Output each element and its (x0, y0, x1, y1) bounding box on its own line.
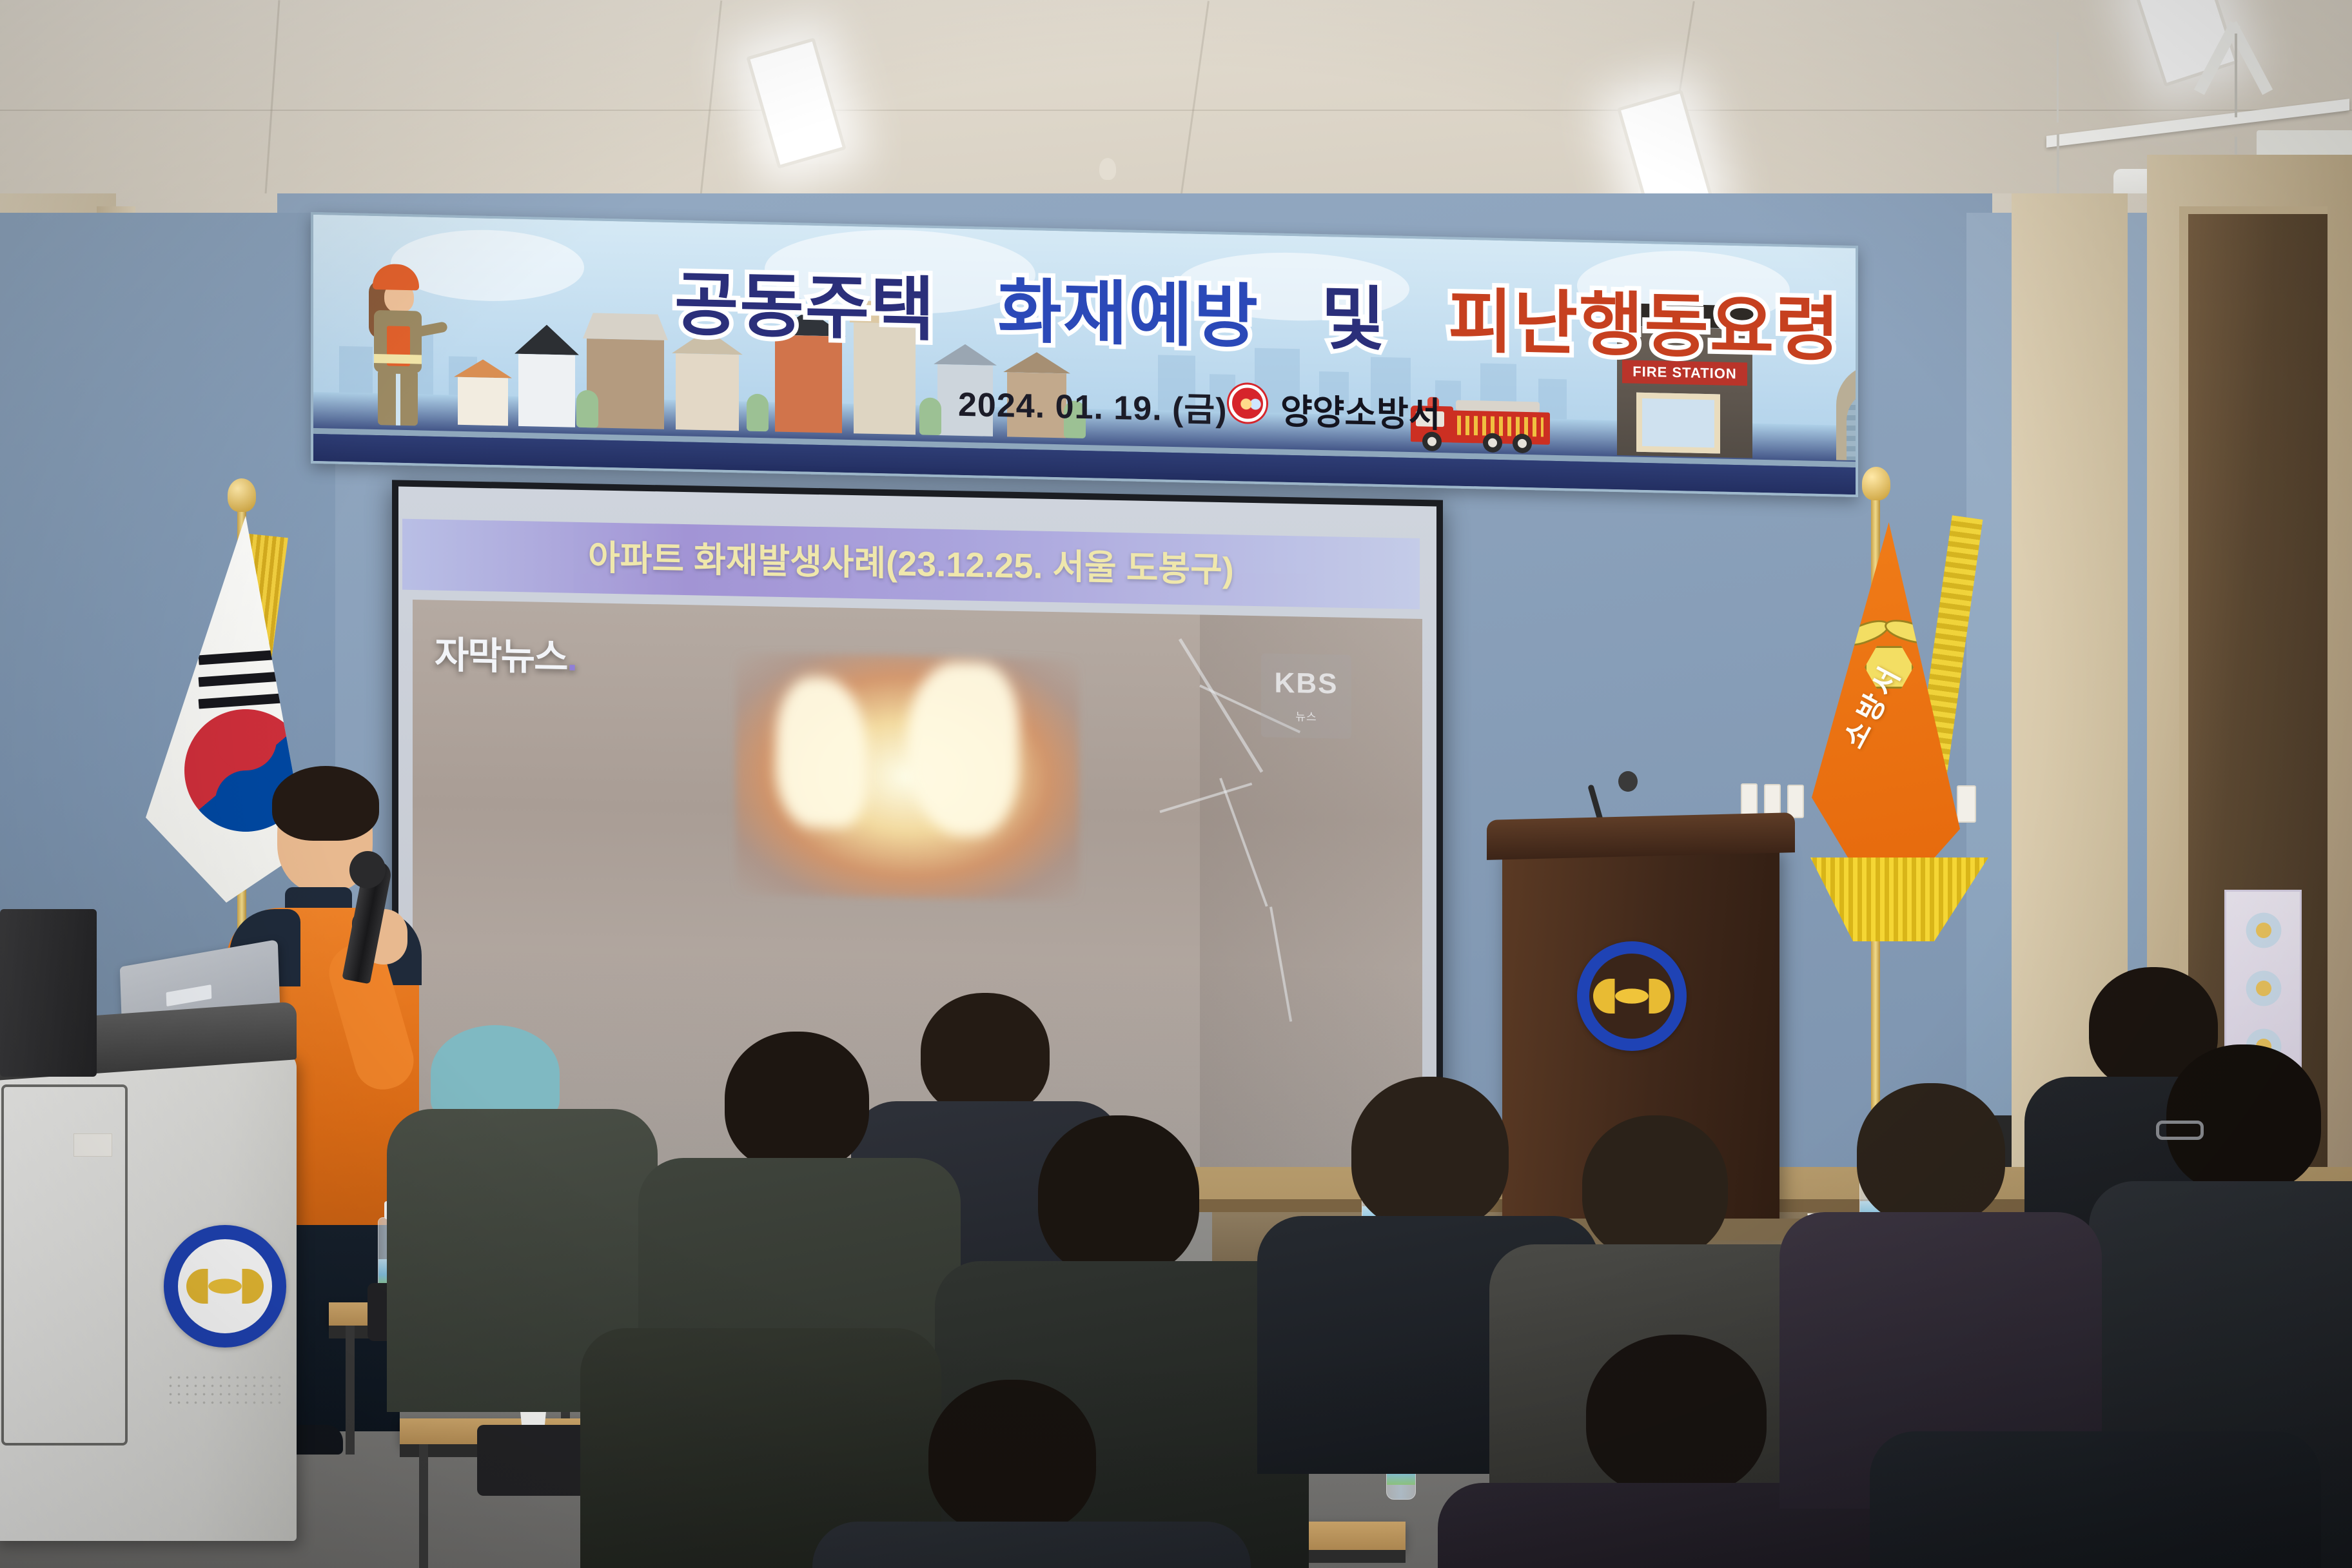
lectern-left (0, 1051, 297, 1541)
banner-date: 2024. 01. 19. (금) (958, 377, 1228, 431)
banner-organization: 양양소방서 (1280, 383, 1440, 437)
floor-speaker (0, 909, 97, 1077)
lectern-emblem-left (164, 1225, 286, 1347)
ceiling (0, 0, 2352, 213)
audience-head (1586, 1335, 1767, 1496)
audience-head (1582, 1115, 1728, 1259)
wall-switch-3[interactable] (1787, 785, 1804, 818)
banner-title-seg-3: 및 (1321, 279, 1386, 358)
flag-finial-icon (1862, 467, 1890, 500)
slide-title: 아파트 화재발생사례(23.12.25. 서울 도봉구) (402, 519, 1420, 609)
audience-head (1351, 1077, 1509, 1230)
banner-title-seg-1: 공동주택 (674, 265, 936, 349)
banner-house (587, 338, 664, 429)
banner-house (518, 354, 575, 427)
banner-firefighter-illustration (358, 263, 436, 433)
wall-switch-4[interactable] (1957, 785, 1976, 823)
lecture-hall-photo: FIRE STATION 공동주택 화재예방 및 피난행동요령 집합교육 202… (0, 0, 2352, 1568)
fire-eagle-icon (186, 1269, 264, 1304)
ceiling-sprinkler-icon (1099, 158, 1116, 180)
banner-house (458, 377, 508, 426)
fire-eagle-icon (1593, 979, 1671, 1014)
audience-head (1857, 1083, 2005, 1225)
audience-head (2166, 1044, 2321, 1193)
fire-agency-logo-icon (1229, 384, 1266, 422)
lectern-emblem-right (1577, 941, 1687, 1051)
beanie-hat (431, 1025, 560, 1122)
audience-head (928, 1380, 1096, 1534)
presenter-hair (272, 766, 379, 841)
video-caption-label: 자막뉴스. (435, 625, 576, 681)
banner-title-seg-4: 피난행동요령 (1448, 282, 1840, 368)
banner-title-seg-2: 화재예방 (998, 272, 1259, 356)
microphone-head-icon (1618, 771, 1638, 792)
audience-jacket (812, 1522, 1251, 1568)
wall-switch-1[interactable] (1741, 783, 1758, 817)
banner-house (676, 353, 739, 431)
audience-head (1038, 1115, 1199, 1277)
eyeglasses-icon (2156, 1121, 2204, 1140)
audience-head (725, 1032, 869, 1171)
audience-head (921, 993, 1050, 1115)
event-banner: FIRE STATION 공동주택 화재예방 및 피난행동요령 집합교육 202… (311, 212, 1858, 497)
audience-jacket (1870, 1431, 2321, 1568)
kbs-watermark-icon: KBS 뉴스 (1261, 653, 1351, 739)
flag-finial-icon (228, 478, 256, 512)
